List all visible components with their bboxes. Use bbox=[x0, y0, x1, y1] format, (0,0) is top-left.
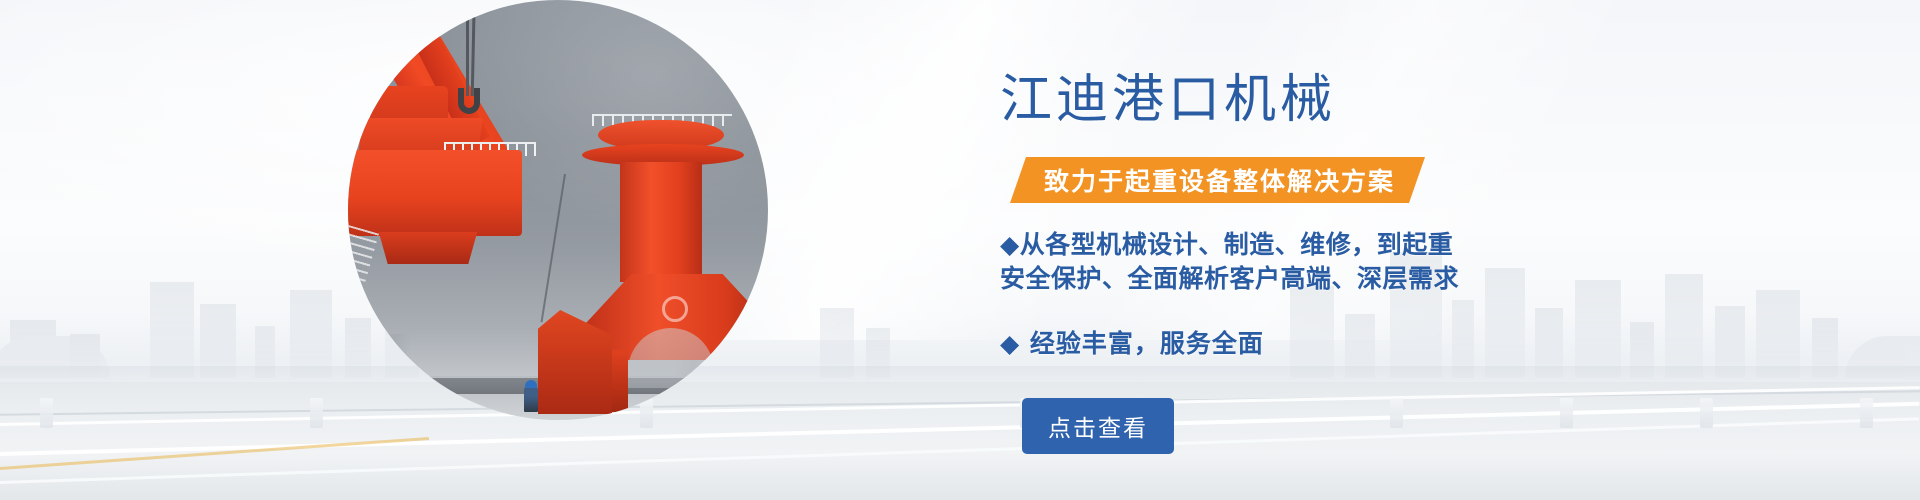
pedestal-crane-icon bbox=[574, 114, 768, 414]
photo-worker-helmet bbox=[525, 380, 537, 388]
tagline-text: 致力于起重设备整体解决方案 bbox=[1044, 162, 1395, 198]
bullet-line-2: 安全保护、全面解析客户高端、深层需求 bbox=[1000, 262, 1459, 296]
luffing-crane-icon bbox=[348, 0, 608, 260]
photo-worker bbox=[524, 386, 538, 412]
crane-photo-circle bbox=[348, 0, 768, 420]
banner-title: 江迪港口机械 bbox=[1000, 74, 1336, 126]
bullet-line-3: ◆ 经验丰富，服务全面 bbox=[1000, 328, 1459, 360]
feature-bullets: ◆从各型机械设计、制造、维修，到起重 安全保护、全面解析客户高端、深层需求 ◆ … bbox=[1000, 228, 1459, 360]
hero-banner: 江迪港口机械 致力于起重设备整体解决方案 ◆从各型机械设计、制造、维修，到起重 … bbox=[0, 0, 1920, 500]
tagline-ribbon: 致力于起重设备整体解决方案 bbox=[1010, 157, 1425, 203]
bullet-line-1: ◆从各型机械设计、制造、维修，到起重 bbox=[1000, 228, 1459, 262]
banner-content: 江迪港口机械 致力于起重设备整体解决方案 ◆从各型机械设计、制造、维修，到起重 … bbox=[1000, 0, 1900, 500]
cta-button[interactable]: 点击查看 bbox=[1022, 398, 1174, 454]
crane-photo-image bbox=[348, 0, 768, 420]
